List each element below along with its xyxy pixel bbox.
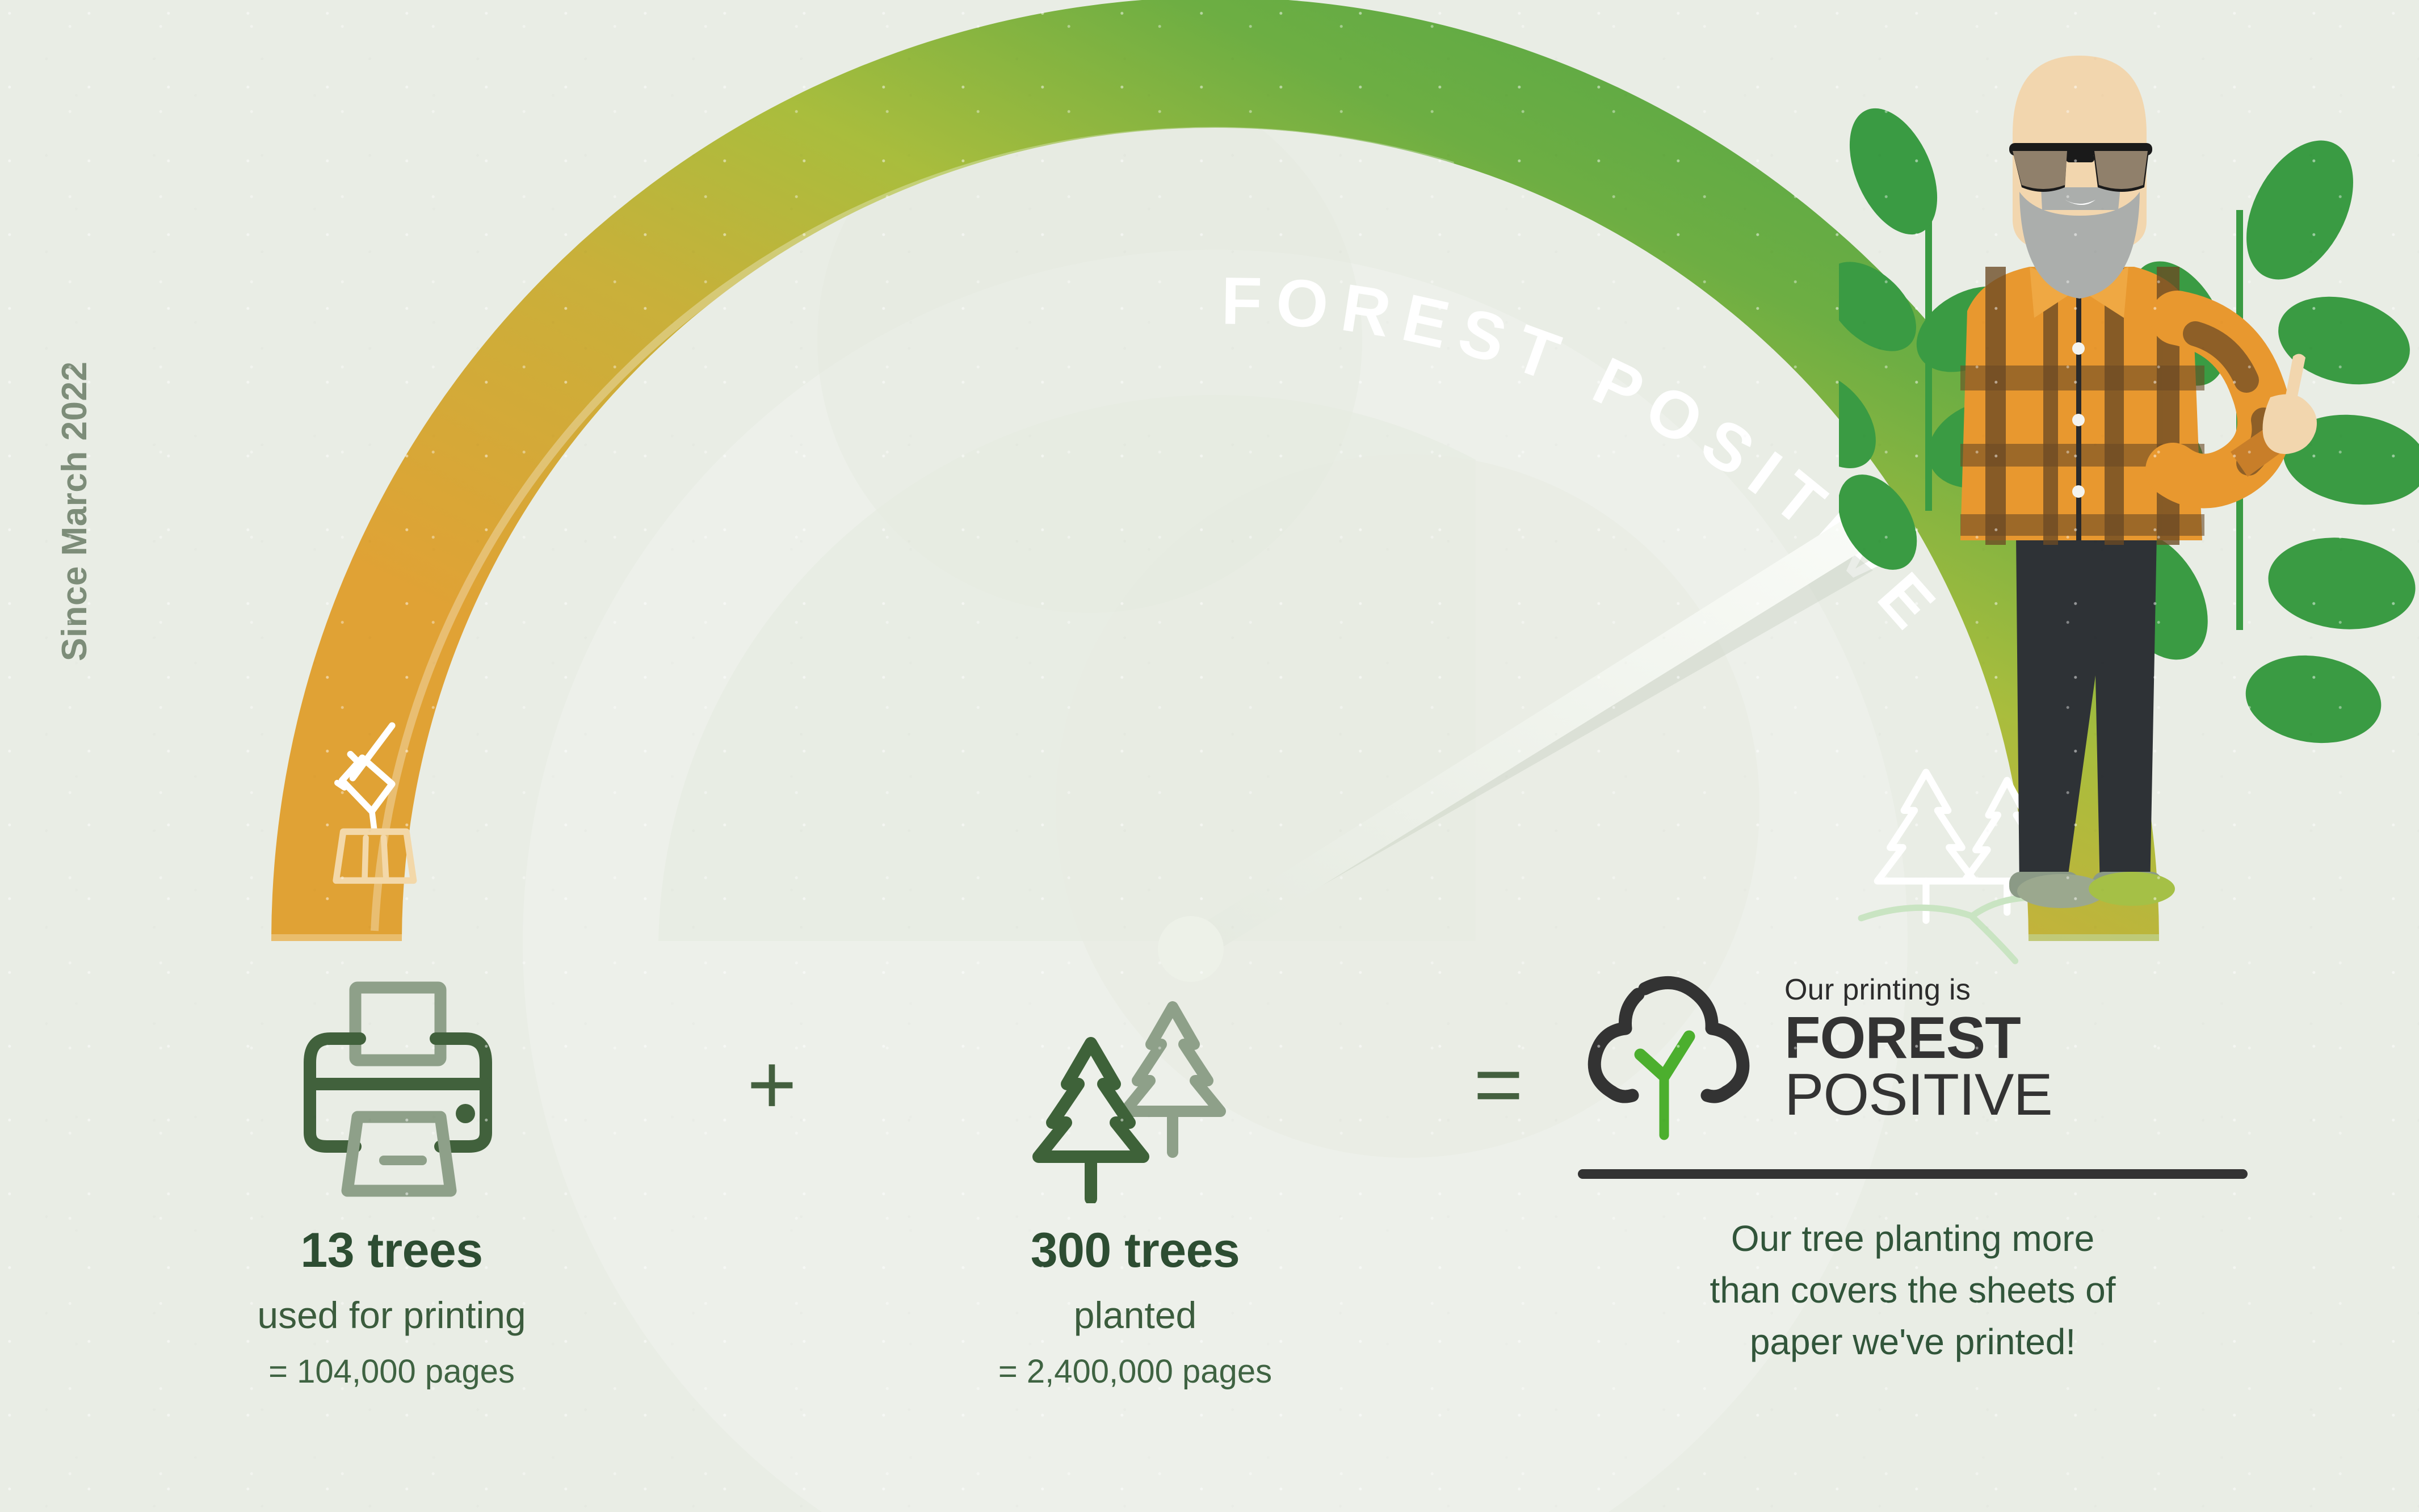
- stat-pages: = 2,400,000 pages: [851, 1353, 1419, 1391]
- forest-positive-logo-column: Our printing is FOREST POSITIVE Our tree…: [1578, 965, 2248, 1368]
- stat-column-planting: 300 trees planted = 2,400,000 pages: [851, 965, 1419, 1391]
- summary-equation-row: 13 trees used for printing = 104,000 pag…: [0, 965, 2419, 1512]
- logo-caption-line-1: Our tree planting more: [1578, 1213, 2248, 1265]
- stat-subtitle: used for printing: [91, 1293, 692, 1337]
- lumberjack-illustration: [1839, 23, 2419, 948]
- printer-icon-wrap: [91, 965, 692, 1203]
- operator-equals-column: =: [1419, 965, 1578, 1203]
- since-date-label: Since March 2022: [54, 362, 95, 661]
- logo-line-1: FOREST: [1784, 1010, 2052, 1067]
- stat-pages: = 104,000 pages: [91, 1353, 692, 1391]
- infographic-canvas: FOREST POSITIVE: [0, 0, 2419, 1512]
- equals-icon: =: [1473, 1041, 1523, 1127]
- character-head: [2009, 56, 2152, 299]
- two-pine-trees-icon: [1022, 976, 1249, 1203]
- logo-underline: [1578, 1169, 2248, 1179]
- trees-icon-wrap: [851, 965, 1419, 1203]
- tree-checkmark-logo-icon: [1578, 965, 1765, 1158]
- character-trousers: [2009, 534, 2175, 908]
- logo-caption-line-2: than covers the sheets of: [1578, 1265, 2248, 1316]
- plus-icon: +: [747, 1041, 797, 1127]
- logo-kicker: Our printing is: [1784, 973, 2052, 1007]
- stat-subtitle: planted: [851, 1293, 1419, 1337]
- stat-column-printing: 13 trees used for printing = 104,000 pag…: [91, 965, 692, 1391]
- stat-headline: 300 trees: [851, 1223, 1419, 1279]
- logo-line-2: POSITIVE: [1784, 1067, 2052, 1124]
- logo-wordmark: Our printing is FOREST POSITIVE: [1784, 965, 2052, 1124]
- stat-headline: 13 trees: [91, 1223, 692, 1279]
- logo-caption: Our tree planting more than covers the s…: [1578, 1213, 2248, 1368]
- forest-positive-logo: Our printing is FOREST POSITIVE: [1578, 965, 2248, 1158]
- operator-plus-column: +: [692, 965, 851, 1203]
- logo-caption-line-3: paper we've printed!: [1578, 1316, 2248, 1368]
- printer-icon: [278, 976, 505, 1203]
